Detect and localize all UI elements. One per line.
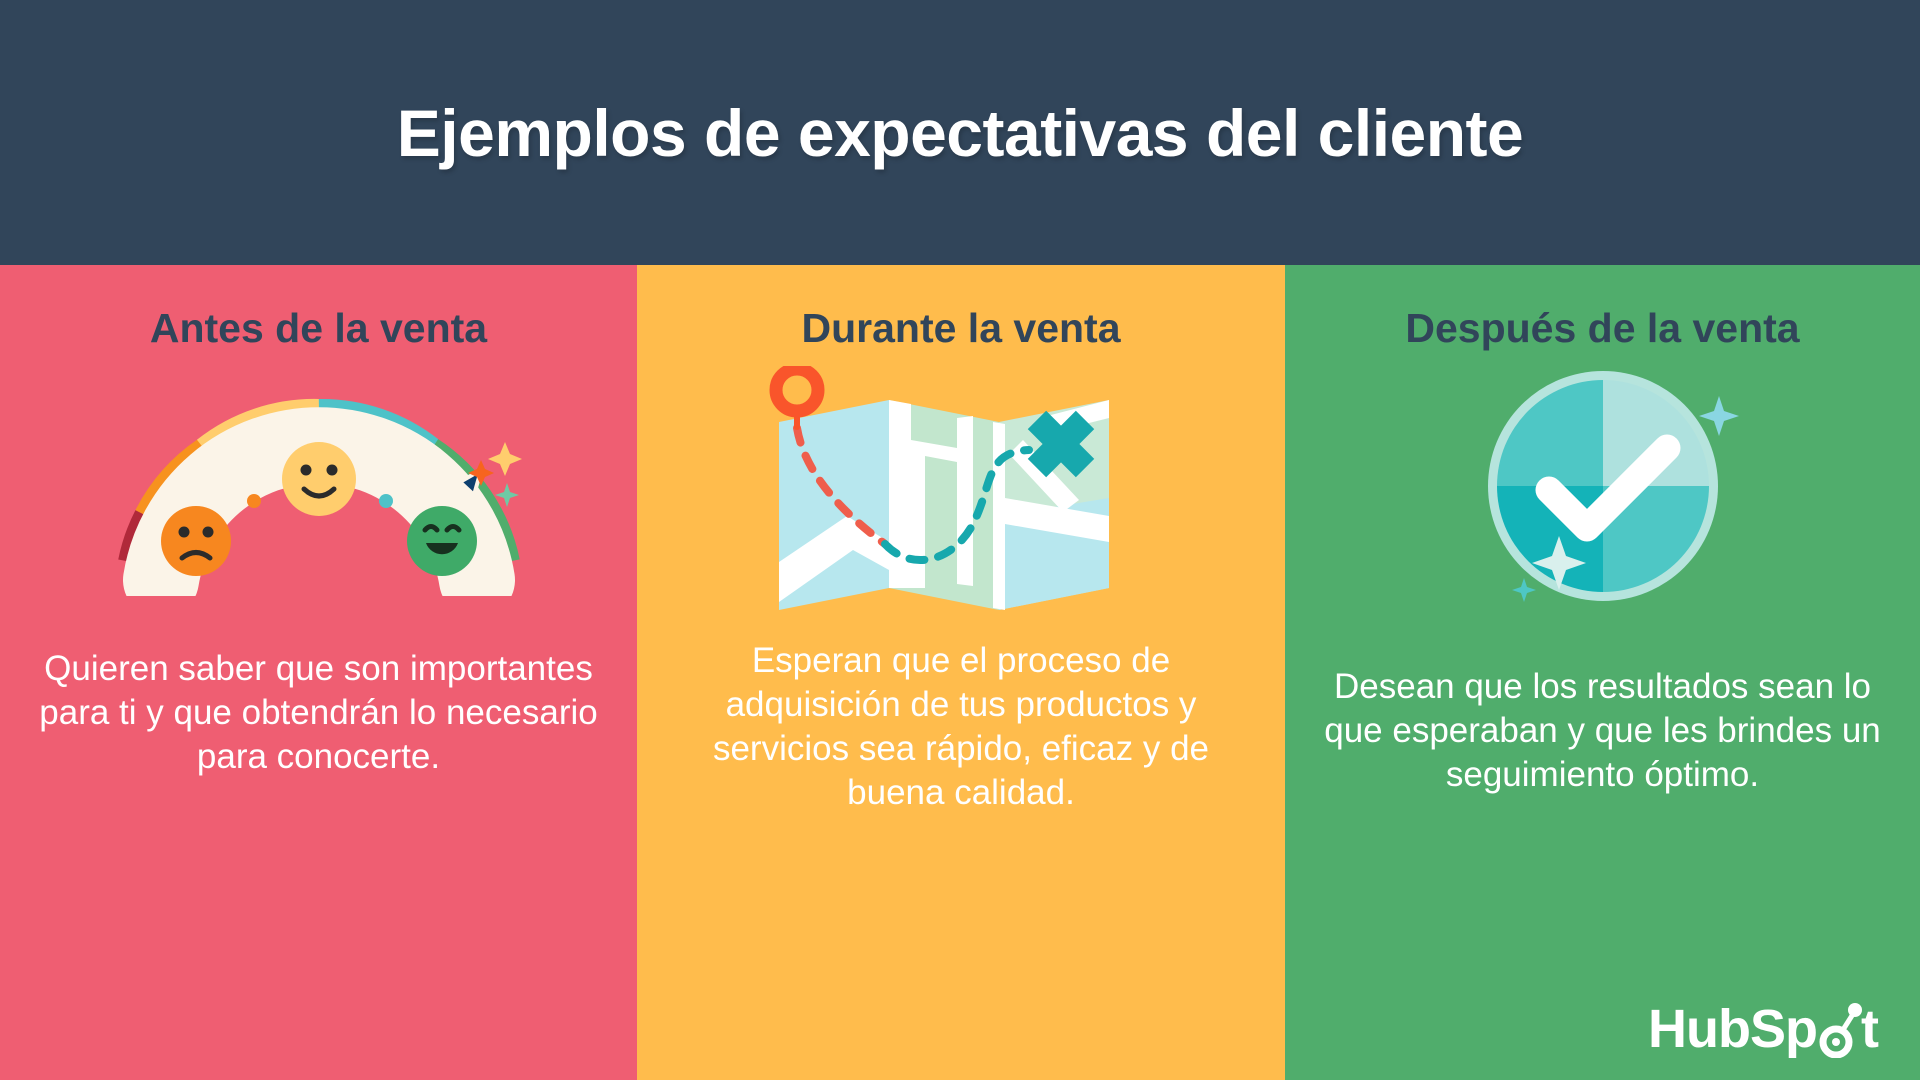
small-sparkle: [1512, 578, 1536, 602]
folded-map-icon: [761, 366, 1161, 621]
hubspot-sprocket-icon: [1817, 1002, 1861, 1056]
column-body-before: Quieren saber que son importantes para t…: [0, 647, 637, 779]
yellow-sparkle: [488, 442, 522, 476]
infographic-root: Ejemplos de expectativas del cliente Ant…: [0, 0, 1920, 1080]
column-body-after: Desean que los resultados sean lo que es…: [1285, 665, 1920, 797]
column-body-during: Esperan que el proceso de adquisición de…: [637, 639, 1285, 815]
column-after-sale: Después de la venta: [1285, 265, 1920, 1080]
checkmark-circle-icon: [1453, 366, 1753, 621]
column-during-sale: Durante la venta: [637, 265, 1285, 1080]
column-heading-before: Antes de la venta: [150, 305, 487, 352]
sad-face: [161, 506, 231, 576]
columns-container: Antes de la venta: [0, 265, 1920, 1080]
teal-dot: [379, 494, 393, 508]
happy-face: [407, 506, 477, 576]
top-sparkle: [1699, 396, 1739, 436]
hubspot-wordmark-part1: HubSp: [1648, 1002, 1817, 1056]
column-heading-during: Durante la venta: [802, 305, 1121, 352]
orange-dot: [247, 494, 261, 508]
neutral-face: [282, 442, 356, 516]
column-before-sale: Antes de la venta: [0, 265, 637, 1080]
header-bar: Ejemplos de expectativas del cliente: [0, 0, 1920, 265]
column-heading-after: Después de la venta: [1405, 305, 1799, 352]
hubspot-wordmark-part2: t: [1861, 1002, 1878, 1056]
hubspot-logo: HubSp t: [1648, 1002, 1878, 1056]
satisfaction-gauge-icon: [109, 366, 529, 601]
page-title: Ejemplos de expectativas del cliente: [397, 95, 1524, 171]
